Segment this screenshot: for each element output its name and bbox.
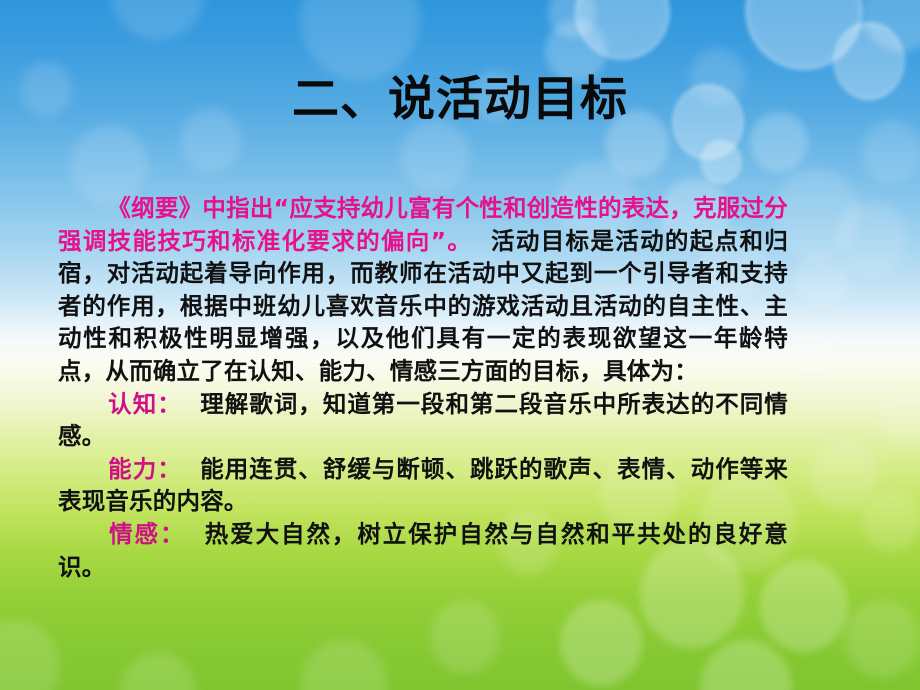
goal-item-emotion: 情感：热爱大自然，树立保护自然与自然和平共处的良好意识。 bbox=[58, 518, 788, 583]
goal-label-emotion: 情感： bbox=[107, 520, 185, 548]
slide-body-text: 《纲要》中指出“应支持幼儿富有个性和创造性的表达，克服过分强调技能技巧和标准化要… bbox=[58, 192, 788, 583]
paragraph-intro: 《纲要》中指出“应支持幼儿富有个性和创造性的表达，克服过分强调技能技巧和标准化要… bbox=[58, 192, 788, 388]
goal-label-ability: 能力： bbox=[107, 455, 181, 483]
slide-title: 二、说活动目标 bbox=[0, 72, 920, 128]
goal-item-cognition: 认知：理解歌词，知道第一段和第二段音乐中所表达的不同情感。 bbox=[58, 388, 788, 453]
goal-label-cognition: 认知： bbox=[107, 390, 181, 418]
goal-item-ability: 能力：能用连贯、舒缓与断顿、跳跃的歌声、表情、动作等来表现音乐的内容。 bbox=[58, 453, 788, 518]
presentation-slide: 二、说活动目标 《纲要》中指出“应支持幼儿富有个性和创造性的表达，克服过分强调技… bbox=[0, 0, 920, 690]
